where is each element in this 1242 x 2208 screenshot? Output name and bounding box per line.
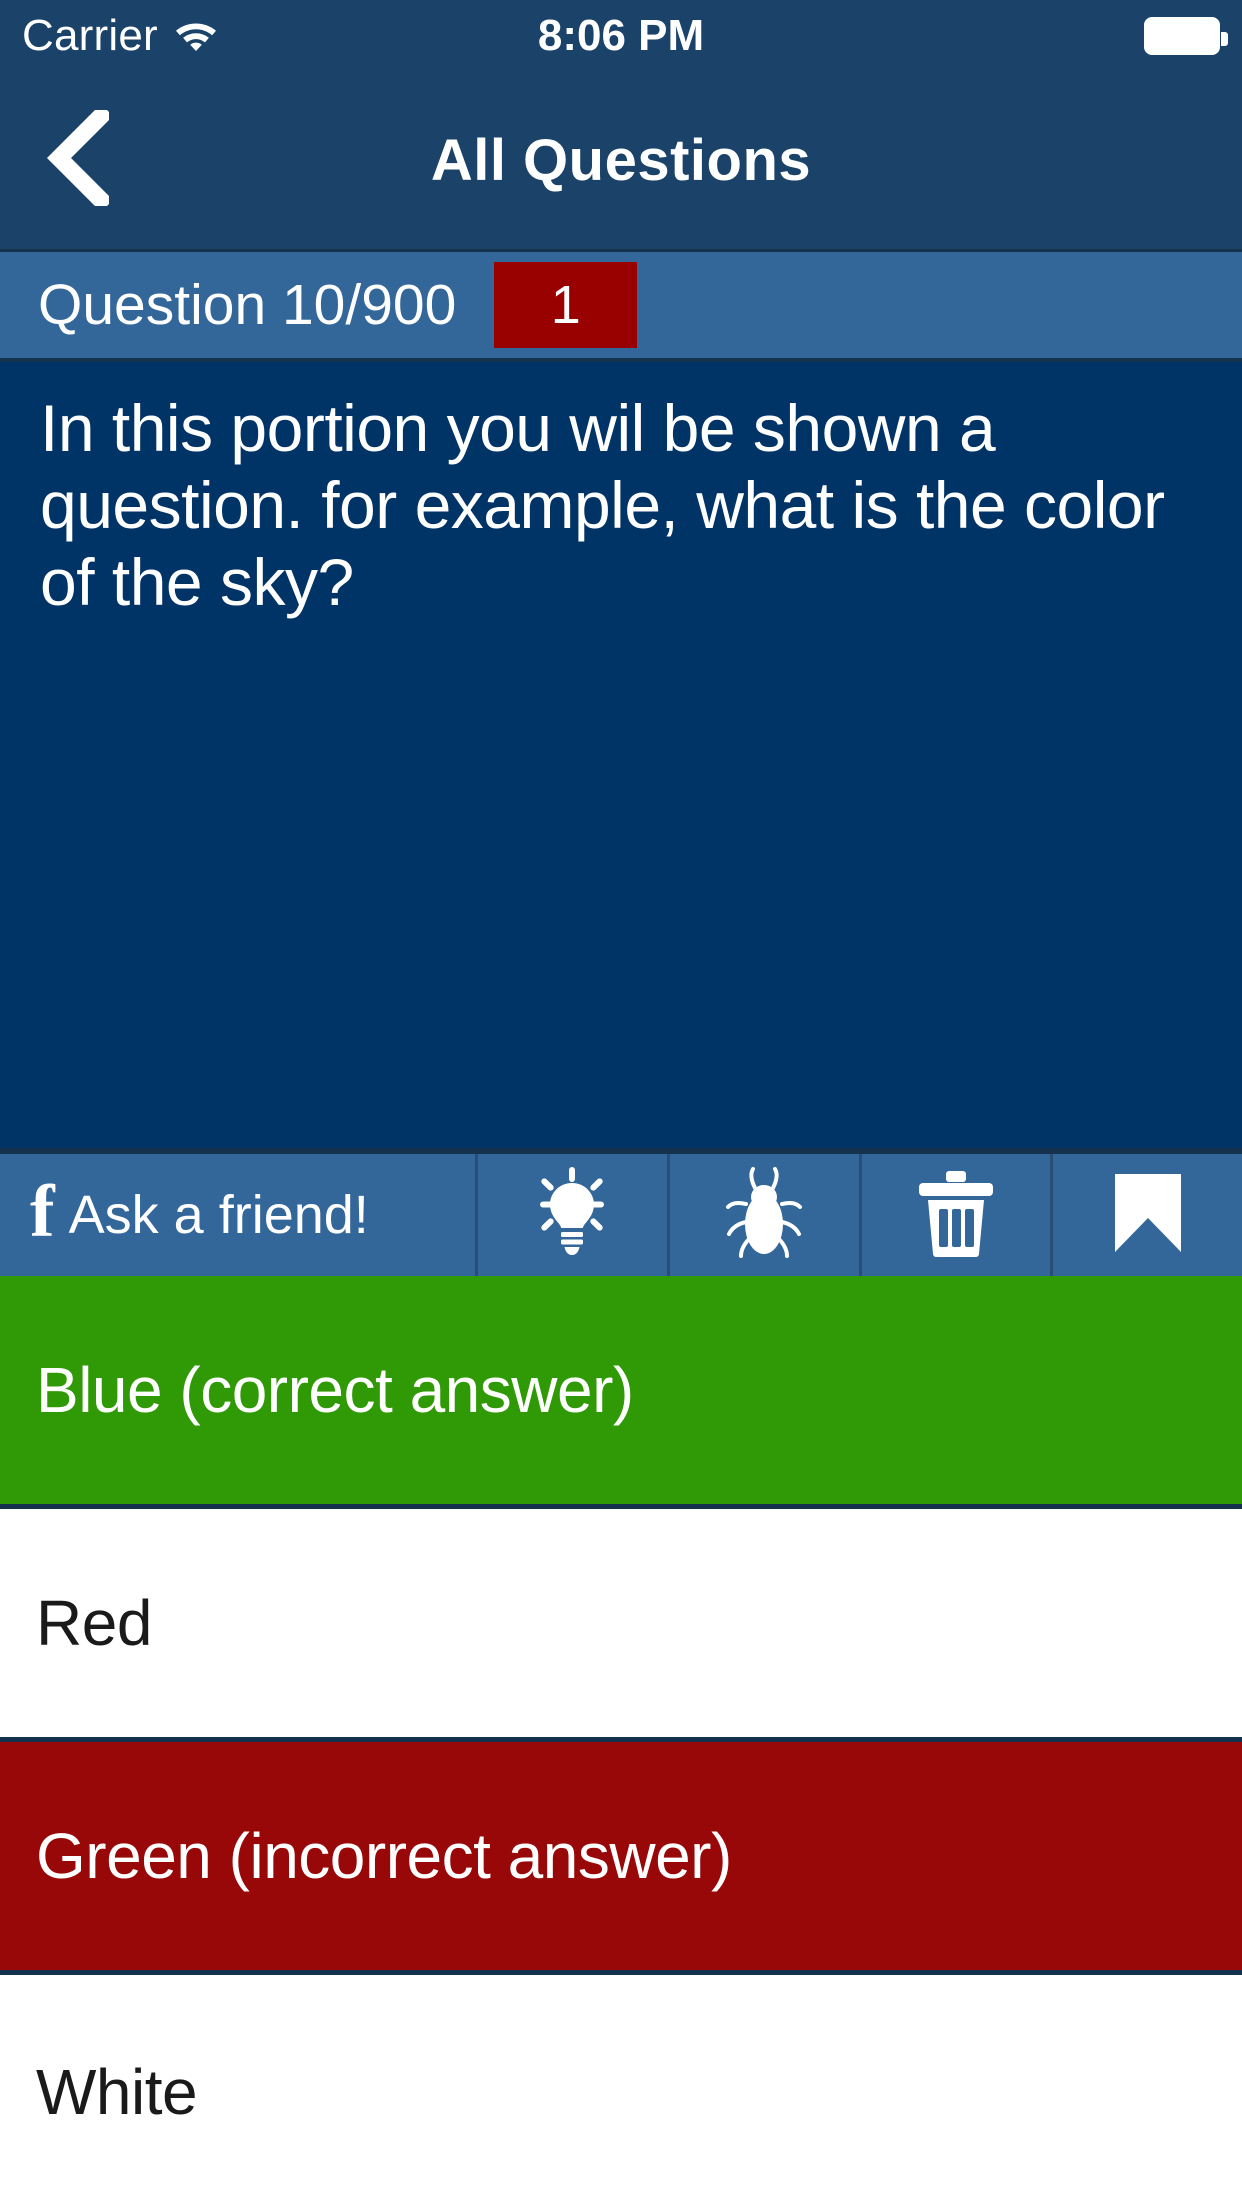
back-button[interactable] [28,106,128,216]
answer-label: White [36,2060,197,2124]
status-bar: Carrier 8:06 PM [0,0,1242,72]
answer-label: Red [36,1591,152,1655]
answer-list: Blue (correct answer) Red Green (incorre… [0,1276,1242,2208]
question-text: In this portion you wil be shown a quest… [40,390,1202,622]
answer-option[interactable]: White [0,1975,1242,2208]
question-counter: Question 10/900 [38,277,456,334]
app-screen: Carrier 8:06 PM All Questions [0,0,1242,2208]
question-header-bar: Question 10/900 1 [0,252,1242,362]
score-badge: 1 [494,262,637,348]
facebook-icon: f [30,1181,55,1244]
carrier-label: Carrier [22,14,158,58]
battery-full-icon [1144,17,1220,55]
bug-icon [724,1166,804,1265]
status-bar-right [1144,17,1220,55]
report-bug-button[interactable] [670,1154,862,1276]
answer-label: Blue (correct answer) [36,1358,634,1422]
answer-label: Green (incorrect answer) [36,1824,732,1888]
ask-a-friend-button[interactable]: f Ask a friend! [0,1154,478,1276]
delete-button[interactable] [862,1154,1054,1276]
answer-option[interactable]: Red [0,1509,1242,1742]
bookmark-button[interactable] [1053,1154,1242,1276]
lightbulb-icon [529,1167,615,1264]
action-toolbar: f Ask a friend! [0,1148,1242,1276]
trash-icon [917,1169,995,1262]
wifi-icon [174,17,218,56]
page-title: All Questions [0,132,1242,190]
answer-option[interactable]: Blue (correct answer) [0,1276,1242,1509]
answer-option[interactable]: Green (incorrect answer) [0,1742,1242,1975]
navigation-bar: All Questions [0,72,1242,252]
ask-a-friend-label: Ask a friend! [69,1188,369,1242]
status-bar-left: Carrier [22,14,218,58]
chevron-left-icon [47,110,109,211]
hint-button[interactable] [478,1154,670,1276]
question-content-area: In this portion you wil be shown a quest… [0,362,1242,1148]
bookmark-icon [1111,1172,1185,1259]
